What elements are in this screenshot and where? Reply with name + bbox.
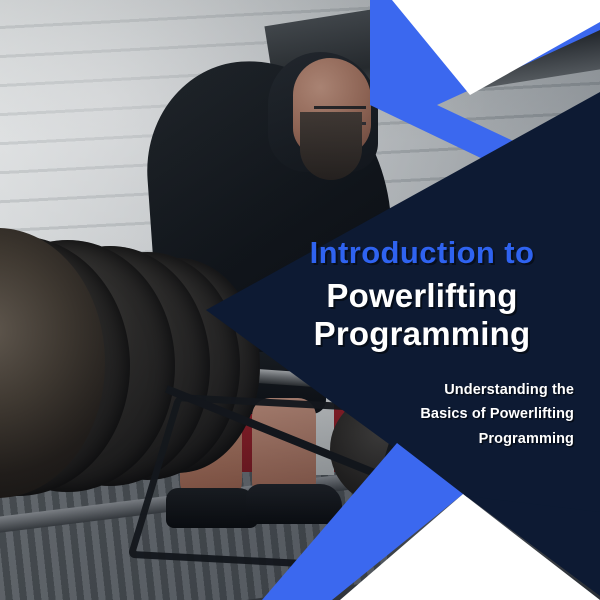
- title-line-introduction: Introduction to: [262, 236, 582, 271]
- subtitle-line-2: Basics of Powerlifting: [352, 402, 574, 426]
- subtitle-block: Understanding the Basics of Powerlifting…: [352, 378, 574, 451]
- subtitle-line-3: Programming: [352, 427, 574, 451]
- title-block: Introduction to Powerlifting Programming: [262, 236, 582, 353]
- subtitle-line-1: Understanding the: [352, 378, 574, 402]
- title-line-powerlifting: Powerlifting: [262, 277, 582, 315]
- poster-canvas: Introduction to Powerlifting Programming…: [0, 0, 600, 600]
- title-line-programming: Programming: [262, 315, 582, 353]
